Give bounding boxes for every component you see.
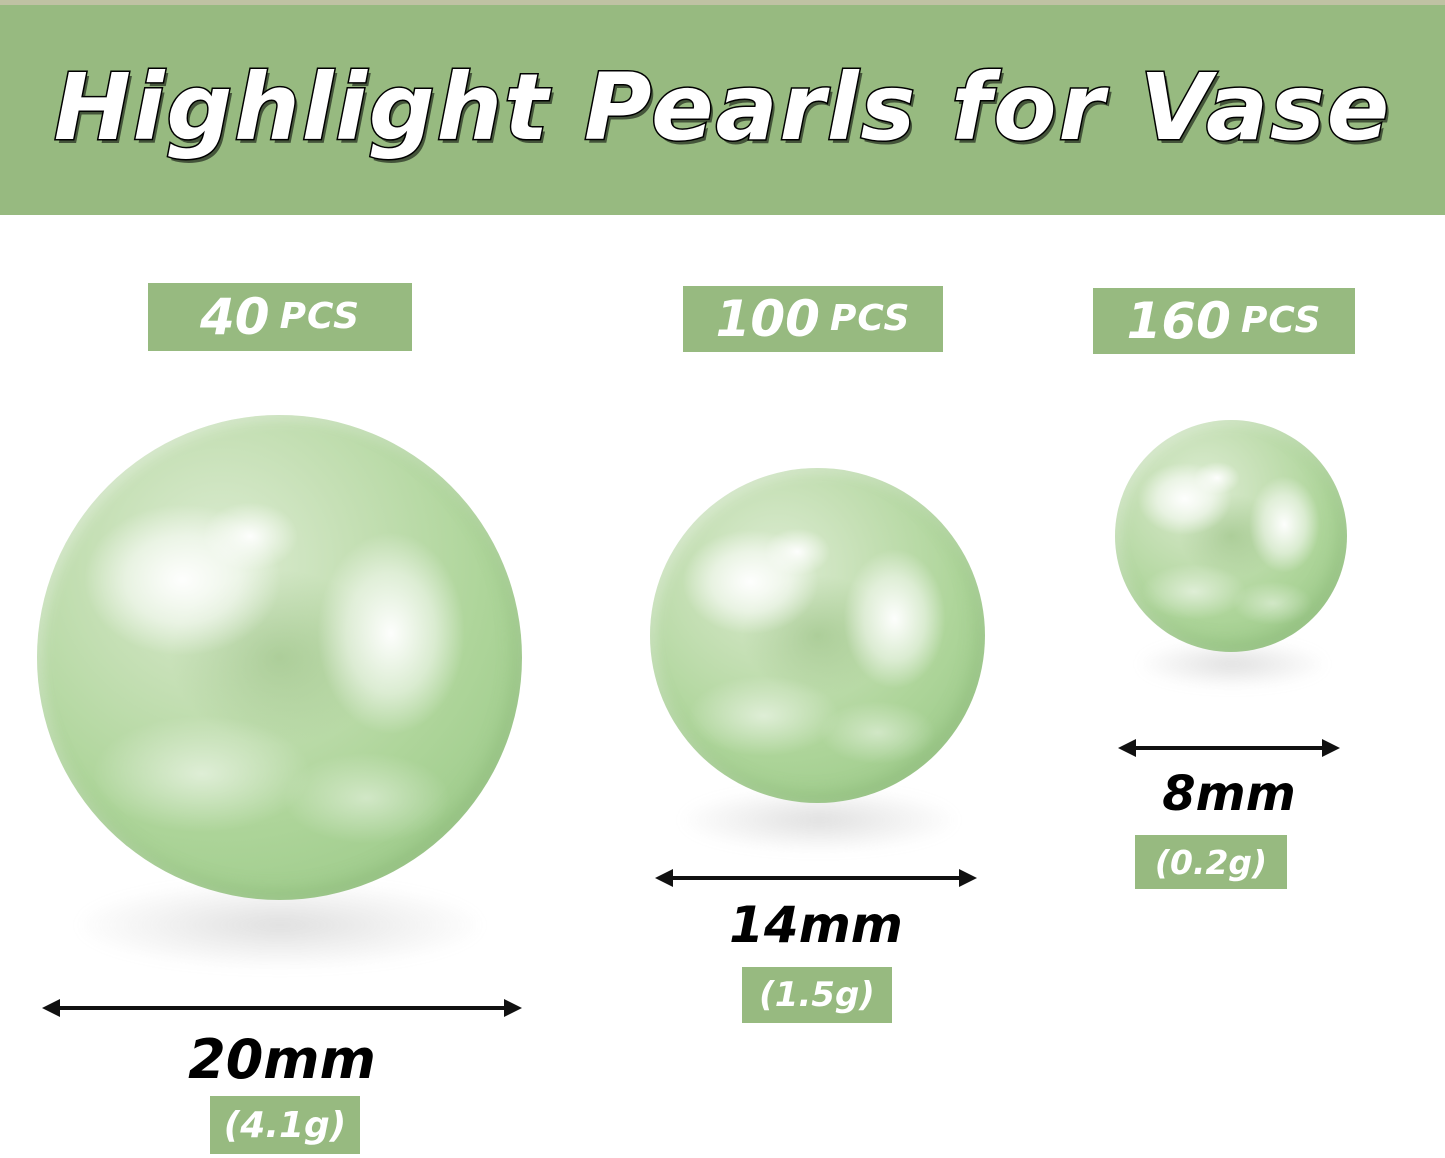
dimension-arrow-20mm (42, 995, 522, 1021)
pcs-count-8mm: 160 (1127, 296, 1231, 346)
weight-badge-20mm: (4.1g) (210, 1096, 360, 1154)
pcs-unit-8mm: PCS (1241, 303, 1321, 339)
arrow-line (1132, 746, 1326, 750)
pearl-sphere-8mm (1115, 420, 1347, 652)
pcs-unit-20mm: PCS (280, 299, 360, 335)
arrow-line (669, 876, 963, 880)
pcs-count-14mm: 100 (716, 294, 820, 344)
pcs-badge-14mm: 100 PCS (683, 286, 943, 352)
weight-badge-8mm: (0.2g) (1135, 835, 1287, 889)
pcs-count-20mm: 40 (200, 292, 270, 342)
pearl-image-8mm (1115, 420, 1347, 652)
pearl-sphere-14mm (650, 468, 985, 803)
dimension-arrow-14mm (655, 865, 977, 891)
infographic-canvas: Highlight Pearls for Vase 40 PCS 100 PCS… (0, 0, 1445, 1158)
size-label-8mm: 8mm (1118, 766, 1340, 822)
arrow-head-right-icon (1322, 739, 1340, 757)
size-label-20mm: 20mm (42, 1028, 522, 1091)
weight-badge-14mm: (1.5g) (742, 967, 892, 1023)
pearl-image-20mm (37, 415, 522, 900)
pcs-badge-8mm: 160 PCS (1093, 288, 1355, 354)
arrow-head-right-icon (959, 869, 977, 887)
dimension-arrow-8mm (1118, 735, 1340, 761)
arrow-head-right-icon (504, 999, 522, 1017)
arrow-line (56, 1006, 508, 1010)
page-title: Highlight Pearls for Vase (0, 53, 1445, 163)
pcs-badge-20mm: 40 PCS (148, 283, 412, 351)
pearl-sphere-20mm (37, 415, 522, 900)
pearl-image-14mm (650, 468, 985, 803)
size-label-14mm: 14mm (655, 896, 977, 954)
pcs-unit-14mm: PCS (830, 301, 910, 337)
header-banner: Highlight Pearls for Vase (0, 5, 1445, 215)
